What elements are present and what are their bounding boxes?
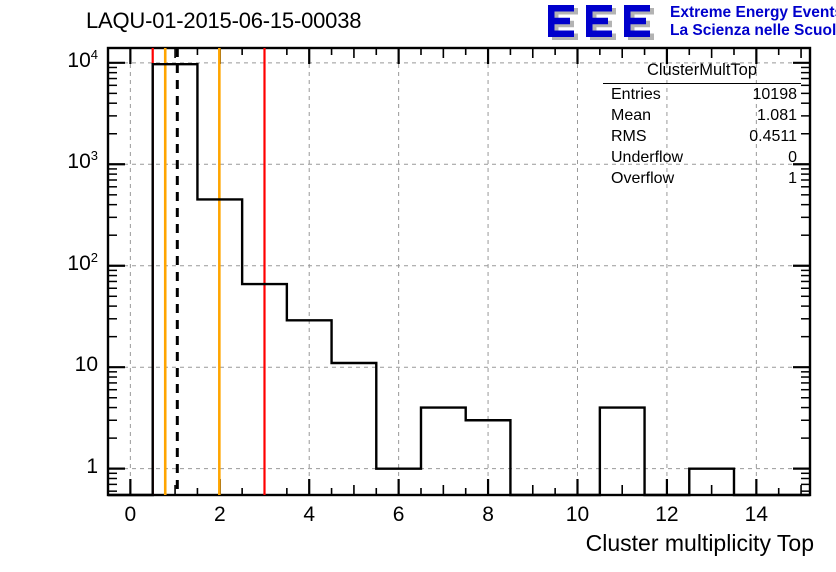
stats-row: Underflow0 <box>603 147 801 168</box>
y-tick-label: 102 <box>67 252 98 276</box>
stats-row-value: 0.4511 <box>749 127 797 146</box>
x-tick-label: 2 <box>190 503 250 527</box>
y-tick-label: 10 <box>75 353 98 377</box>
stats-row: Overflow1 <box>603 168 801 189</box>
stats-row-label: Overflow <box>611 169 674 188</box>
stats-row: RMS0.4511 <box>603 126 801 147</box>
logo-line-1: Extreme Energy Events <box>670 4 836 22</box>
logo-text: Extreme Energy Events La Scienza nelle S… <box>670 4 836 40</box>
stats-row: Mean1.081 <box>603 105 801 126</box>
stats-row-value: 1.081 <box>757 106 797 125</box>
x-tick-label: 8 <box>458 503 518 527</box>
stats-row: Entries10198 <box>603 84 801 105</box>
eee-logo: Extreme Energy Events La Scienza nelle S… <box>546 2 832 44</box>
x-tick-label: 14 <box>726 503 786 527</box>
x-tick-label: 12 <box>637 503 697 527</box>
stats-row-value: 10198 <box>753 85 798 104</box>
stats-rows: Entries10198Mean1.081RMS0.4511Underflow0… <box>603 84 801 189</box>
x-tick-label: 6 <box>369 503 429 527</box>
x-tick-label: 4 <box>279 503 339 527</box>
eee-mark-icon <box>546 3 666 41</box>
marker-lines <box>153 48 265 495</box>
stats-row-value: 1 <box>788 169 797 188</box>
y-tick-label: 104 <box>67 49 98 73</box>
stats-box: ClusterMultTop Entries10198Mean1.081RMS0… <box>603 60 801 189</box>
y-tick-label: 103 <box>67 150 98 174</box>
logo-line-2: La Scienza nelle Scuole <box>670 22 836 40</box>
stats-row-label: Mean <box>611 106 651 125</box>
x-tick-label: 10 <box>547 503 607 527</box>
x-tick-label: 0 <box>100 503 160 527</box>
stats-row-value: 0 <box>788 148 797 167</box>
stats-row-label: Underflow <box>611 148 683 167</box>
stats-row-label: RMS <box>611 127 647 146</box>
y-tick-label: 1 <box>86 455 98 479</box>
x-axis-title: Cluster multiplicity Top <box>586 530 814 557</box>
stats-title: ClusterMultTop <box>603 60 801 84</box>
stats-row-label: Entries <box>611 85 661 104</box>
page-title: LAQU-01-2015-06-15-00038 <box>86 8 361 34</box>
